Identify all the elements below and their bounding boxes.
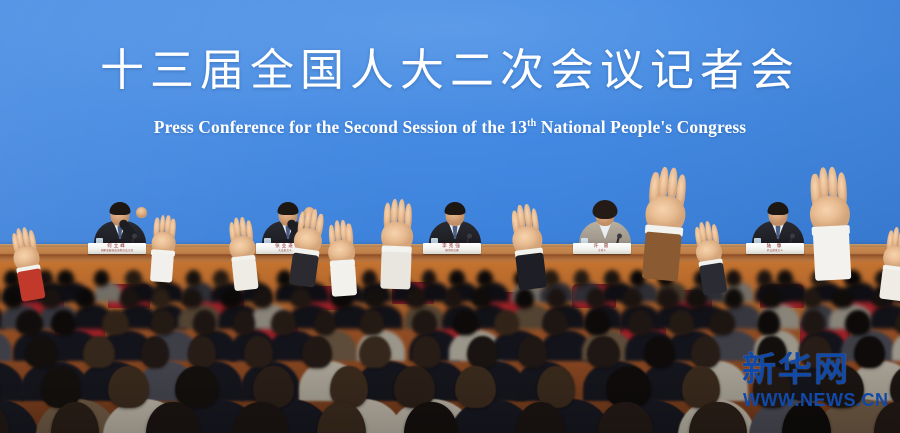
audience-member-head — [76, 288, 95, 308]
nameplate-title-text: 外交部发言人 — [746, 249, 804, 252]
audience-member-head — [802, 310, 825, 335]
audience-member-head — [587, 288, 605, 308]
sleeve — [699, 262, 727, 296]
audience-member-head — [644, 336, 676, 368]
audience-raised-hand — [150, 231, 176, 267]
sleeve — [641, 232, 682, 281]
audience-member-head — [51, 310, 76, 335]
audience-member-head — [362, 270, 377, 286]
panelist-nameplate: 许 雷主持人 — [573, 243, 631, 254]
audience-raised-hand — [511, 224, 546, 271]
audience-member-head — [515, 288, 534, 308]
panelist-gesturing-hand — [136, 207, 147, 218]
press-conference-photo: 十三届全国人大二次会议记者会 Press Conference for the … — [0, 0, 900, 433]
nameplate-title-text: 主持人 — [573, 249, 631, 252]
sleeve — [150, 254, 174, 283]
nameplate-title-text: 国务院总理 — [423, 249, 481, 252]
audience-member-head — [291, 288, 312, 308]
audience-member-head — [622, 288, 642, 308]
audience-member-head — [365, 288, 385, 308]
audience-member-head — [102, 310, 128, 335]
audience-member-head — [151, 310, 175, 335]
audience-member-head — [412, 336, 440, 368]
panelist-hair — [768, 202, 789, 215]
audience-member-head — [757, 270, 772, 286]
audience-member-head — [832, 288, 853, 308]
audience-member-head — [108, 366, 148, 408]
audience-member-head — [188, 336, 216, 368]
audience-member-head — [57, 270, 74, 286]
audience-member-head — [453, 310, 479, 335]
audience-member-head — [803, 288, 821, 308]
audience-raised-hand — [809, 195, 852, 255]
audience-raised-hand — [327, 239, 357, 280]
audience-member-head — [657, 288, 679, 308]
audience-raised-hand — [228, 235, 258, 275]
audience-member-head — [120, 288, 139, 308]
audience-member-head — [518, 336, 547, 368]
subtitle-part-2: National People's Congress — [536, 117, 746, 137]
audience-member-head — [244, 336, 273, 368]
audience-member-head — [604, 270, 620, 286]
sleeve — [289, 252, 319, 288]
audience-member-head — [16, 310, 42, 335]
audience-raised-hand — [290, 226, 323, 270]
audience-member-head — [494, 310, 519, 335]
audience-member-head — [359, 336, 391, 368]
panelist-nameplate: 何立峰国家发展和改革委员会主任 — [88, 243, 146, 254]
panelist-hair — [278, 202, 299, 215]
subtitle-ordinal-suffix: th — [527, 118, 536, 129]
audience-member-head — [777, 270, 793, 286]
sleeve — [330, 264, 357, 297]
audience-member-shoulders — [0, 330, 12, 361]
audience-member-head — [669, 310, 694, 335]
audience-member-head — [547, 288, 567, 308]
audience-member-head — [628, 310, 653, 335]
audience-member-head — [467, 336, 498, 368]
audience-raised-hand — [380, 221, 414, 268]
audience-member-head — [253, 288, 272, 308]
audience-member-head — [422, 270, 437, 286]
audience-member-head — [574, 270, 588, 286]
sleeve — [813, 232, 852, 280]
watermark-url-text: WWW.NEWS.CN — [743, 390, 888, 410]
audience-raised-hand — [642, 194, 687, 255]
audience-member-head — [543, 310, 568, 335]
audience-member-head — [221, 288, 242, 308]
sleeve — [232, 259, 259, 291]
watermark-logo-text: 新华网 — [742, 352, 850, 388]
audience-member-head — [449, 270, 464, 286]
audience-member-head — [472, 288, 491, 308]
audience-member-head — [406, 288, 426, 308]
sleeve — [879, 269, 900, 302]
audience-member-head — [761, 288, 781, 308]
audience-member-head — [233, 310, 256, 335]
audience-member-head — [25, 336, 59, 368]
audience-member-head — [587, 336, 620, 368]
panelist-nameplate: 李克强国务院总理 — [423, 243, 481, 254]
panelist-hair — [110, 202, 131, 215]
audience-member-head — [213, 270, 229, 286]
audience-member-head — [175, 366, 220, 408]
audience-member-head — [691, 336, 720, 368]
audience-member-head — [726, 270, 741, 286]
audience-member-head — [302, 336, 331, 368]
audience-member-head — [125, 270, 142, 286]
audience-member-head — [444, 288, 462, 308]
audience-member-shoulders — [892, 330, 900, 361]
audience-raised-hand — [880, 245, 900, 286]
audience-member-head — [4, 288, 22, 308]
audience-member-head — [360, 310, 383, 335]
panelist-nameplate: 陆 慷外交部发言人 — [746, 243, 804, 254]
audience-member-head — [412, 310, 437, 335]
audience-member-head — [141, 336, 169, 368]
audience-member-head — [757, 310, 780, 335]
audience-member-head — [83, 336, 115, 368]
audience-member-head — [845, 310, 872, 335]
nameplate-title-text: 国家发展和改革委员会主任 — [88, 249, 146, 252]
audience-member-head — [709, 310, 735, 335]
panelist-hair — [445, 202, 466, 215]
audience-member-head — [152, 288, 170, 308]
audience-member-head — [477, 270, 493, 286]
panelist-hair — [593, 200, 618, 219]
audience-member-head — [186, 270, 201, 286]
sleeve — [515, 252, 547, 290]
audience-member-head — [455, 366, 496, 408]
audience-member-head — [314, 310, 337, 335]
audience-member-head — [181, 288, 203, 308]
audience-member-head — [193, 310, 216, 335]
audience-member-head — [271, 310, 296, 335]
sleeve — [381, 251, 412, 289]
xinhua-watermark: 新华网 WWW.NEWS.CN — [742, 352, 892, 414]
audience-member-head — [585, 310, 610, 335]
audience-member-head — [94, 270, 109, 286]
sleeve — [17, 268, 46, 302]
